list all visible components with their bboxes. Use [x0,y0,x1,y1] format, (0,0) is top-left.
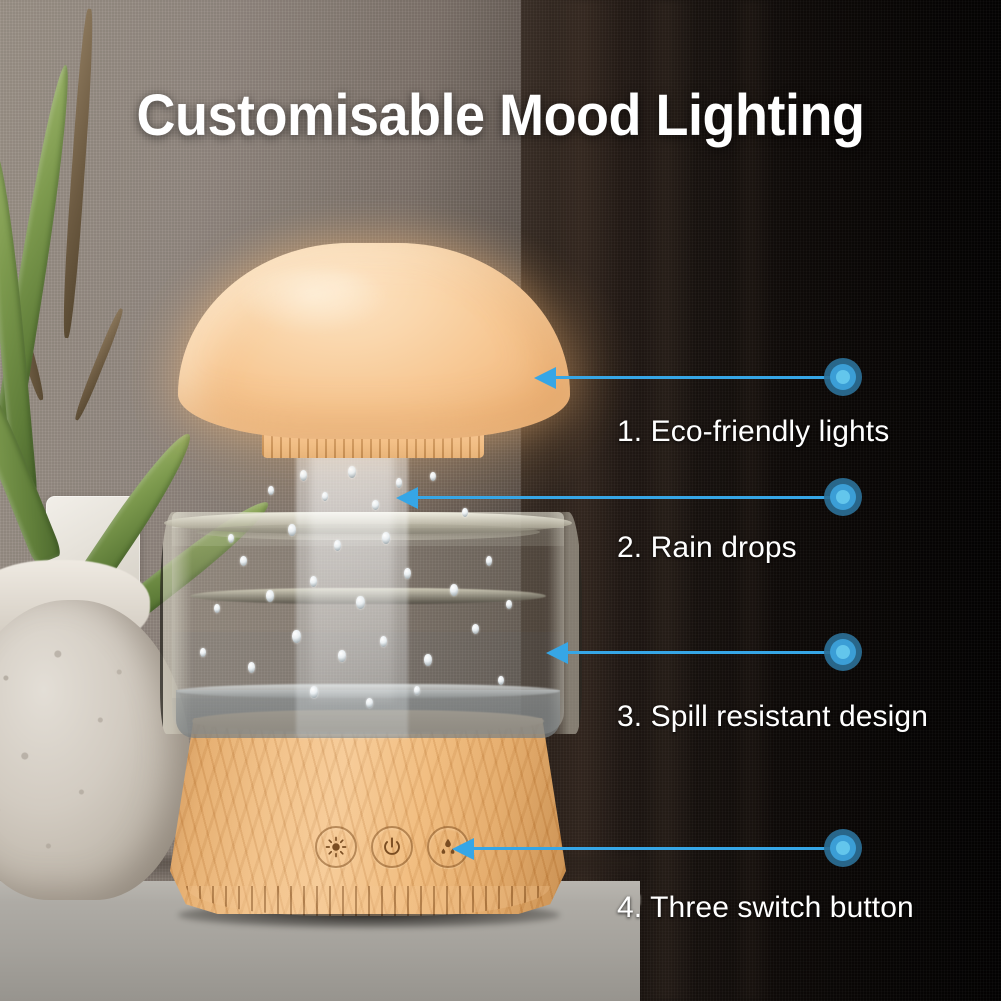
callout-dot-2[interactable] [824,478,862,516]
power-icon [373,828,411,866]
dot-core [836,490,850,504]
callout-line-3 [568,651,844,654]
callout-line-2 [418,496,844,499]
mushroom-cap-light [178,243,570,439]
dot-core [836,370,850,384]
wooden-base [170,718,566,914]
callout-dot-1[interactable] [824,358,862,396]
callout-dot-4[interactable] [824,829,862,867]
rain-cloud-humidifier [0,0,640,1001]
dot-core [836,841,850,855]
callout-arrow-1 [534,367,556,389]
curtain-fold [731,0,775,1001]
sun-icon [317,828,355,866]
curtain-fold [641,0,697,1001]
brightness-button[interactable] [315,826,357,868]
callout-label-1: 1. Eco-friendly lights [617,415,889,449]
callout-arrow-2 [396,487,418,509]
power-button[interactable] [371,826,413,868]
callout-label-3: 3. Spill resistant design [617,700,928,734]
callout-dot-3[interactable] [824,633,862,671]
callout-line-4 [474,847,844,850]
callout-label-4: 4. Three switch button [617,891,914,925]
infographic-canvas: Customisable Mood Lighting 1. Eco-friend… [0,0,1001,1001]
cap-highlight [238,268,388,334]
callout-label-2: 2. Rain drops [617,531,797,565]
dot-core [836,645,850,659]
page-title: Customisable Mood Lighting [35,82,966,149]
mist-column-core [310,452,394,702]
callout-line-1 [556,376,844,379]
callout-arrow-3 [546,642,568,664]
callout-arrow-4 [452,838,474,860]
